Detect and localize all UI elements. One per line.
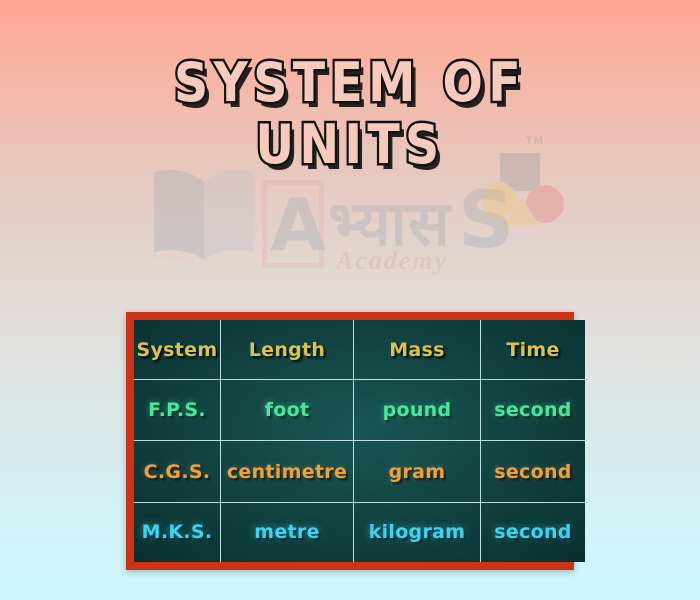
header-label-length: Length xyxy=(221,339,353,361)
header-cell-mass: Mass xyxy=(354,320,481,380)
watermark-hindi-text: भ्यास xyxy=(328,180,451,264)
units-table-frame: System Length Mass Time F.P.S. xyxy=(126,312,574,570)
title-line-2: UNITS xyxy=(42,114,658,176)
header-cell-system: System xyxy=(134,320,221,380)
cell-mks-system: M.K.S. xyxy=(134,502,221,562)
watermark-academy-text: Academy xyxy=(336,246,448,276)
value-fps-length: foot xyxy=(221,399,353,421)
units-table: System Length Mass Time F.P.S. xyxy=(134,320,585,562)
cell-cgs-mass: gram xyxy=(354,441,481,502)
header-label-mass: Mass xyxy=(354,339,480,361)
value-cgs-time: second xyxy=(481,461,585,483)
header-cell-length: Length xyxy=(221,320,354,380)
decor-red-circle-icon xyxy=(526,185,564,223)
table-row: C.G.S. centimetre gram second xyxy=(134,441,585,502)
cell-cgs-time: second xyxy=(481,441,586,502)
table-row: M.K.S. metre kilogram second xyxy=(134,502,585,562)
watermark-a-box: A xyxy=(262,180,324,268)
value-cgs-length: centimetre xyxy=(221,461,353,483)
cell-fps-length: foot xyxy=(221,380,354,441)
watermark-a-letter: A xyxy=(267,181,329,269)
value-fps-system: F.P.S. xyxy=(134,399,220,421)
value-cgs-system: C.G.S. xyxy=(134,461,220,483)
value-mks-system: M.K.S. xyxy=(134,521,220,543)
value-fps-mass: pound xyxy=(354,399,480,421)
header-cell-time: Time xyxy=(481,320,586,380)
cell-fps-system: F.P.S. xyxy=(134,380,221,441)
cell-mks-length: metre xyxy=(221,502,354,562)
page-title: SYSTEM OF UNITS xyxy=(0,52,700,176)
title-line-1: SYSTEM OF xyxy=(42,52,658,114)
value-mks-length: metre xyxy=(221,521,353,543)
poster-canvas: A भ्यास S Academy TM SYSTEM OF UNITS Sys… xyxy=(0,0,700,600)
header-label-system: System xyxy=(134,339,220,361)
value-mks-time: second xyxy=(481,521,585,543)
cell-fps-mass: pound xyxy=(354,380,481,441)
value-mks-mass: kilogram xyxy=(354,521,480,543)
cell-cgs-length: centimetre xyxy=(221,441,354,502)
decor-triangle-icon xyxy=(505,197,539,225)
decor-yellow-circle-icon xyxy=(481,182,517,218)
cell-mks-mass: kilogram xyxy=(354,502,481,562)
table-row: F.P.S. foot pound second xyxy=(134,380,585,441)
cell-fps-time: second xyxy=(481,380,586,441)
value-fps-time: second xyxy=(481,399,585,421)
header-label-time: Time xyxy=(481,339,585,361)
open-book-icon xyxy=(144,160,264,270)
table-header-row: System Length Mass Time xyxy=(134,320,585,380)
value-cgs-mass: gram xyxy=(354,461,480,483)
cell-cgs-system: C.G.S. xyxy=(134,441,221,502)
cell-mks-time: second xyxy=(481,502,586,562)
